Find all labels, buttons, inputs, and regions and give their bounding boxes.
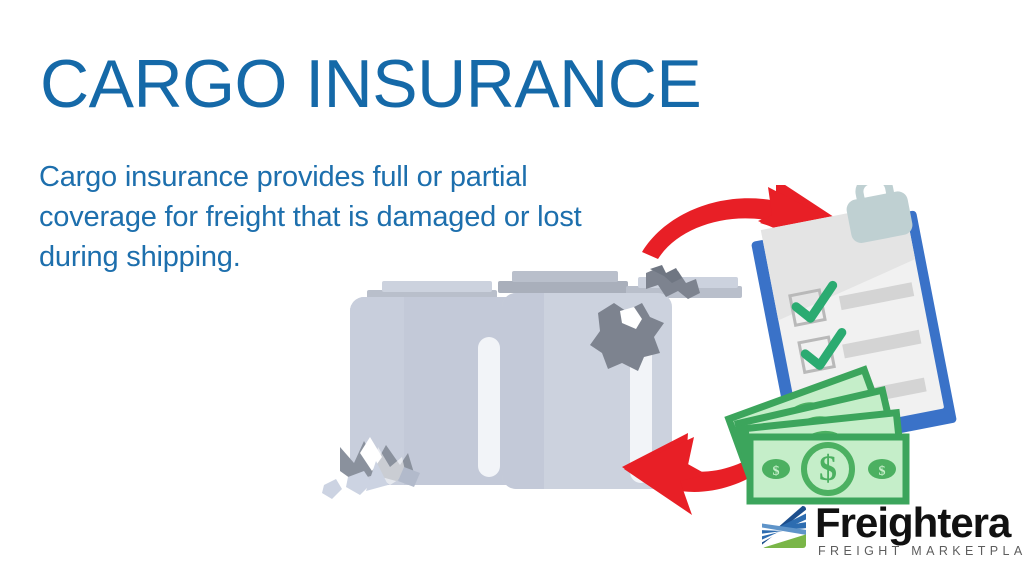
slide-canvas: CARGO INSURANCE Cargo insurance provides…: [0, 0, 1024, 575]
money-stack: $ $ $: [729, 370, 906, 501]
money-dollar-sign-left: $: [773, 464, 780, 479]
freightera-logo-mark-icon: [757, 504, 807, 550]
cargo-insurance-illustration: $ $ $: [320, 185, 960, 525]
page-title: CARGO INSURANCE: [40, 46, 701, 122]
freightera-logo[interactable]: Freightera FREIGHT MARKETPLACE: [757, 500, 1019, 566]
money-dollar-sign-right: $: [879, 464, 886, 479]
damaged-crate-right: [498, 271, 742, 489]
money-front-bill: $ $ $: [750, 437, 906, 501]
freightera-tagline: FREIGHT MARKETPLACE: [818, 544, 1024, 558]
freightera-wordmark: Freightera: [815, 500, 1010, 546]
money-dollar-sign-main: $: [819, 448, 837, 488]
